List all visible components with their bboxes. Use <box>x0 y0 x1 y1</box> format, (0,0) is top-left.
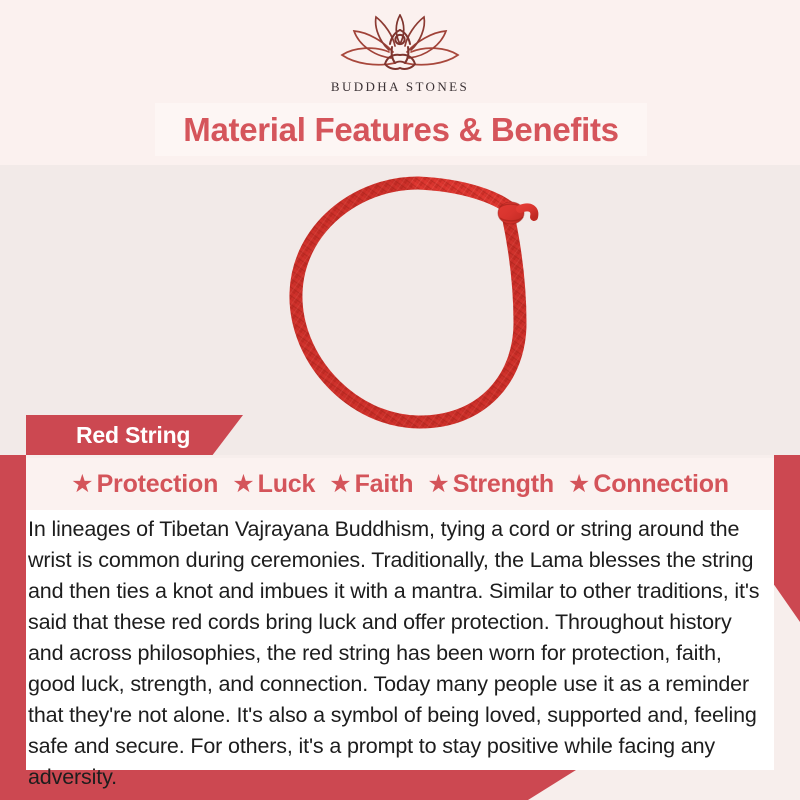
lotus-meditation-icon <box>325 14 475 76</box>
feature-label-faith: Faith <box>355 470 414 499</box>
brand-logo: BUDDHA STONES <box>0 14 800 95</box>
feature-label-connection: Connection <box>593 470 729 499</box>
feature-label-luck: Luck <box>258 470 316 499</box>
product-name-ribbon: Red String <box>26 415 243 455</box>
feature-item-faith: ★ Faith <box>329 470 413 499</box>
infographic-poster: BUDDHA STONES Material Features & Benefi… <box>0 0 800 800</box>
description-panel: In lineages of Tibetan Vajrayana Buddhis… <box>26 510 774 770</box>
feature-item-luck: ★ Luck <box>232 470 315 499</box>
feature-item-connection: ★ Connection <box>568 470 729 499</box>
feature-list: ★ Protection ★ Luck ★ Faith ★ Strength ★… <box>26 458 774 510</box>
feature-label-protection: Protection <box>97 470 219 499</box>
star-icon: ★ <box>71 472 93 497</box>
star-icon: ★ <box>329 472 351 497</box>
red-braided-string-bracelet-image <box>268 173 568 443</box>
product-name-label: Red String <box>26 422 190 449</box>
star-icon: ★ <box>427 472 449 497</box>
feature-label-strength: Strength <box>453 470 554 499</box>
brand-name: BUDDHA STONES <box>331 79 469 95</box>
bracelet-knot <box>498 202 534 224</box>
description-text: In lineages of Tibetan Vajrayana Buddhis… <box>28 514 762 793</box>
title-plate: Material Features & Benefits <box>155 103 647 156</box>
feature-item-protection: ★ Protection <box>71 470 218 499</box>
product-image-area <box>0 165 800 455</box>
star-icon: ★ <box>232 472 254 497</box>
star-icon: ★ <box>568 472 590 497</box>
page-title: Material Features & Benefits <box>183 111 618 149</box>
feature-item-strength: ★ Strength <box>427 470 554 499</box>
